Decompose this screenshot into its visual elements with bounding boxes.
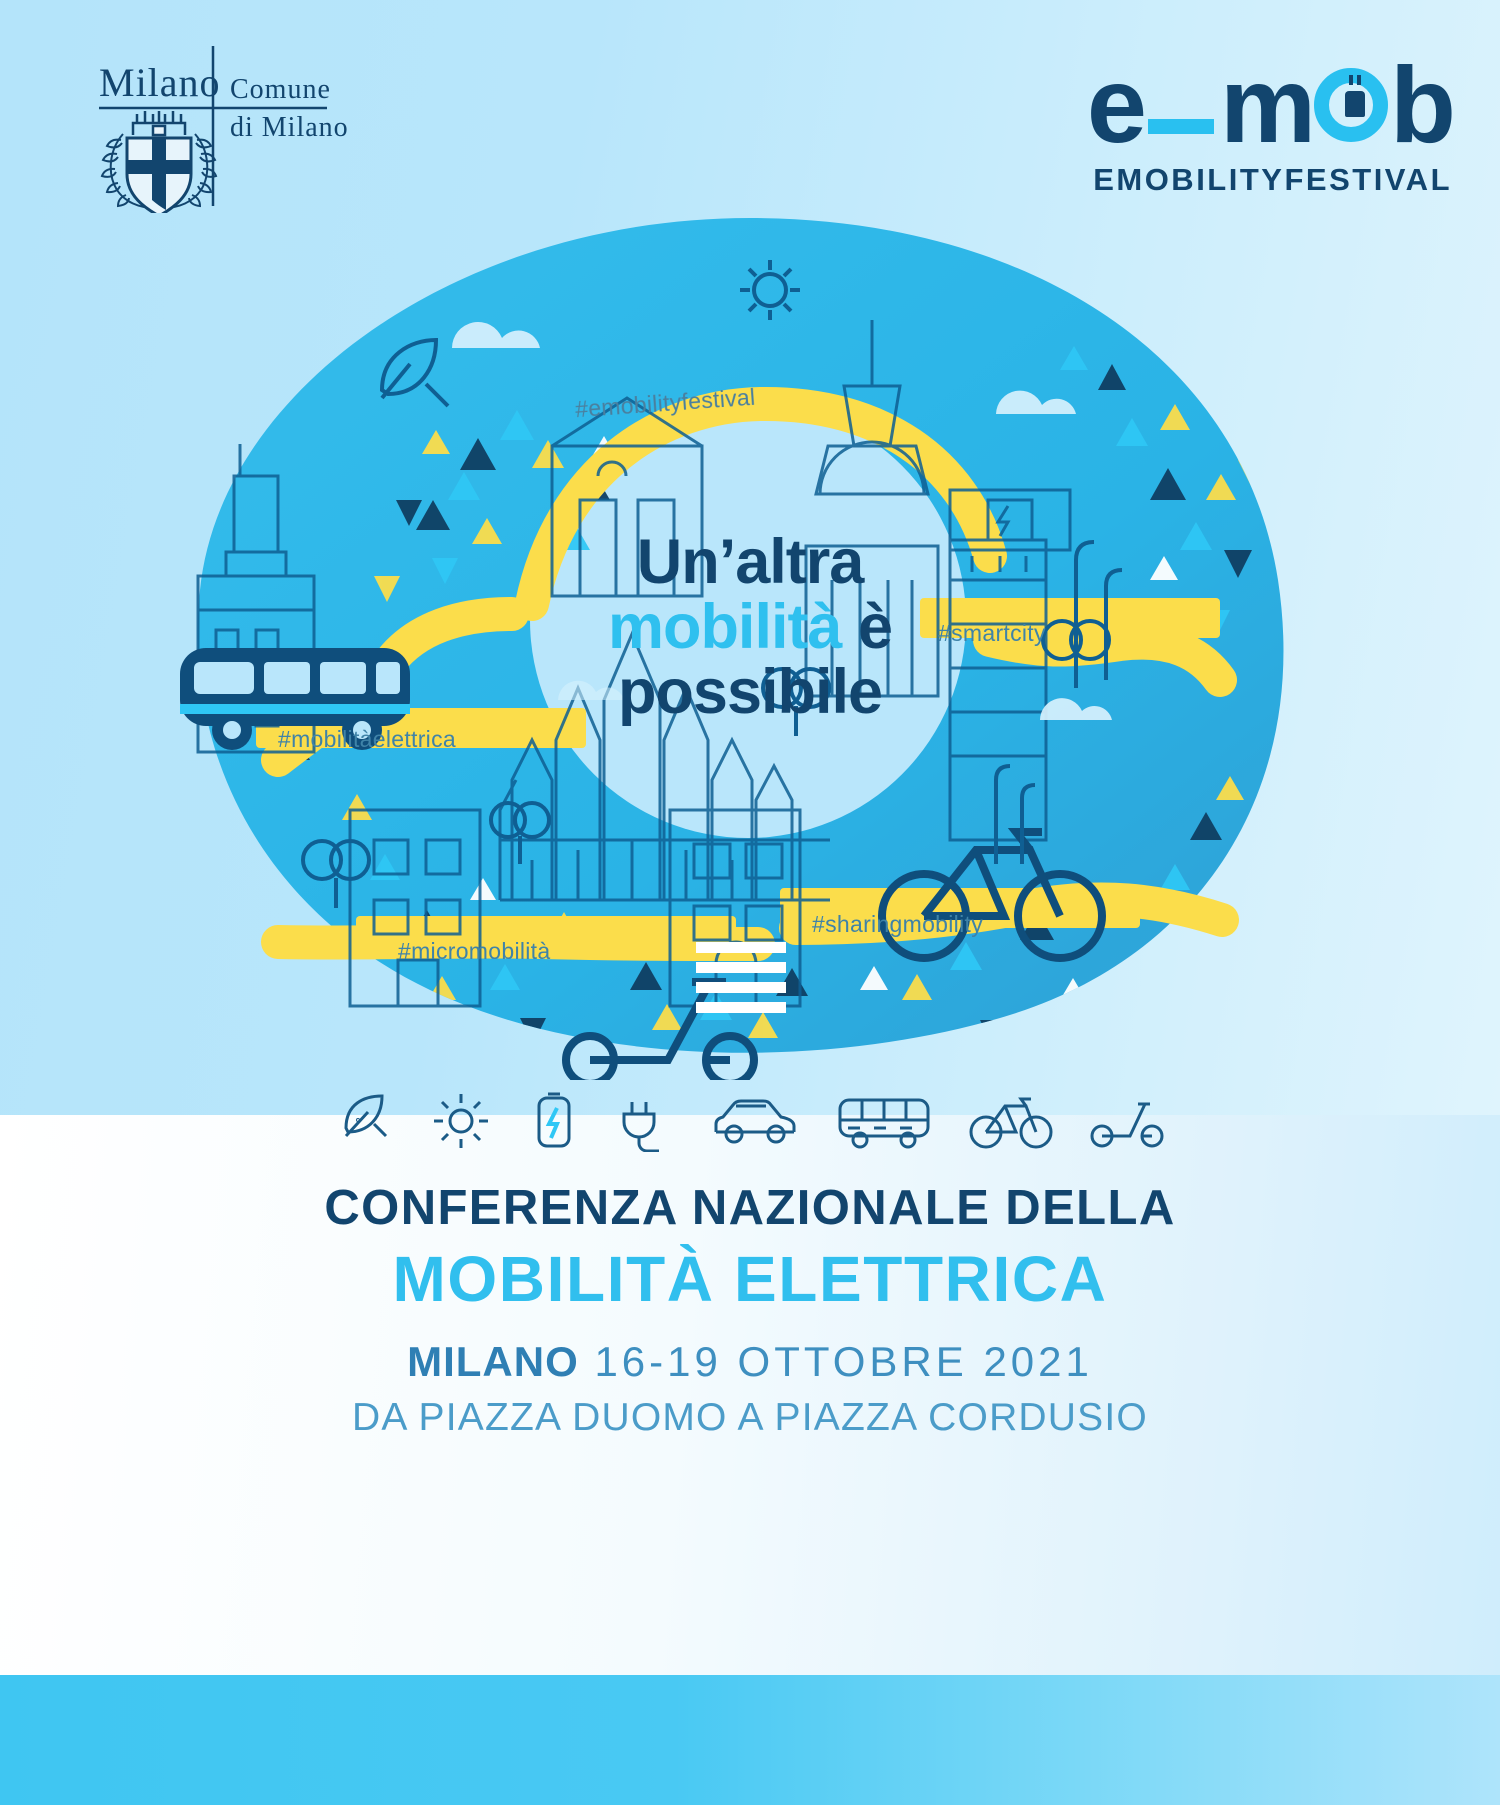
bicycle-icon (968, 1090, 1054, 1152)
comune-di-milano-logo: Milano Comune di Milano (55, 38, 375, 213)
svg-text:di Milano: di Milano (230, 112, 349, 143)
footer-sponsor-bar: STELLANTIS e-MOBILITY BUSINESS UNIT LEAS… (0, 1675, 1500, 1805)
headline-line-1: Un’altra (520, 530, 980, 595)
headline-line-2: mobilità è (520, 595, 980, 660)
hashtag-sharingmobility[interactable]: #sharingmobility (812, 911, 983, 938)
conference-title-line2: MOBILITÀ ELETTRICA (0, 1242, 1500, 1316)
scooter-icon (1088, 1090, 1166, 1152)
headline-line-3: possibile (520, 660, 980, 725)
conference-titles: CONFERENZA NAZIONALE DELLA MOBILITÀ ELET… (0, 1180, 1500, 1440)
emob-letter-e: e (1087, 62, 1144, 148)
headline-line-2-rest: è (858, 592, 892, 662)
hashtag-mobilitaelettrica[interactable]: #mobilitàelettrica (278, 726, 456, 753)
svg-text:Comune: Comune (230, 74, 331, 105)
emob-letter-b: b (1390, 62, 1452, 148)
hashtag-micromobilita[interactable]: #micromobilità (398, 938, 550, 965)
hero-headline: Un’altra mobilità è possibile (520, 530, 980, 725)
emob-subtitle: EMOBILITYFESTIVAL (1052, 162, 1452, 198)
hashtag-smartcity[interactable]: #smartcity (938, 620, 1046, 647)
plug-icon (614, 1090, 676, 1152)
svg-text:Milano: Milano (99, 60, 221, 105)
sun-icon (430, 1090, 492, 1152)
battery-charge-icon (526, 1090, 580, 1152)
event-date-line: MILANO 16-19 OTTOBRE 2021 (0, 1338, 1500, 1386)
poster-canvas: Milano Comune di Milano e m b EMOBILITYF… (0, 0, 1500, 1805)
electric-bus-icon (834, 1090, 934, 1152)
electric-car-icon (710, 1090, 800, 1152)
event-date-range: 16-19 OTTOBRE 2021 (594, 1338, 1092, 1385)
plug-o-icon (1314, 68, 1388, 142)
leaf-search-icon (334, 1090, 396, 1152)
emob-underscore-icon (1148, 119, 1214, 134)
event-city: MILANO (407, 1338, 579, 1385)
emob-festival-logo[interactable]: e m b EMOBILITYFESTIVAL (1052, 62, 1452, 198)
headline-highlight: mobilità (608, 592, 842, 662)
conference-title-line1: CONFERENZA NAZIONALE DELLA (0, 1180, 1500, 1236)
mobility-icon-strip (0, 1090, 1500, 1152)
emob-wordmark: e m b (1052, 62, 1452, 148)
emob-letter-m: m (1220, 62, 1312, 148)
event-location: DA PIAZZA DUOMO A PIAZZA CORDUSIO (0, 1396, 1500, 1440)
